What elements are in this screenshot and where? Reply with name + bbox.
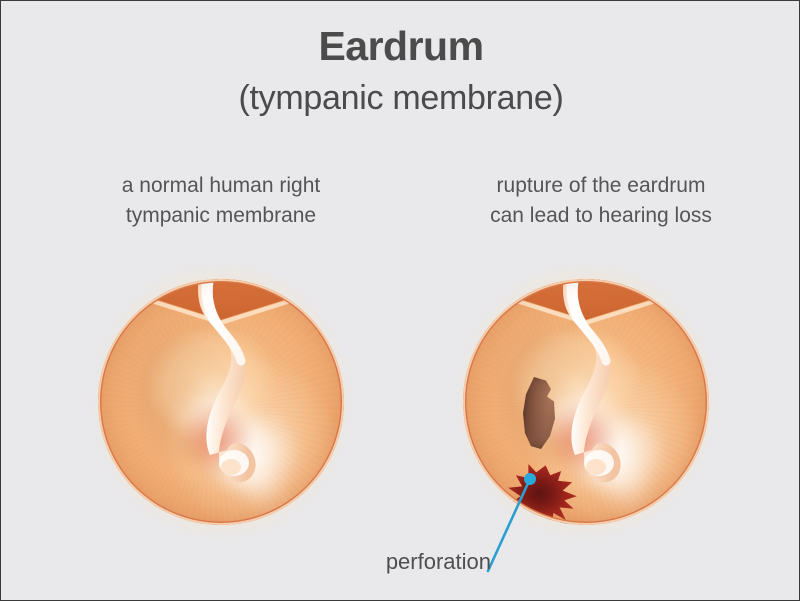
radial-fibres: [100, 281, 342, 523]
membrane-surface: [100, 281, 342, 523]
cone-of-light-glow: [571, 412, 684, 520]
eardrum-ruptured: [421, 241, 751, 561]
caption-normal: a normal human right tympanic membrane: [46, 171, 396, 231]
caption-ruptured: rupture of the eardrum can lead to heari…: [421, 171, 781, 231]
figure-subtitle: (tympanic membrane): [1, 79, 800, 118]
radial-fibres: [465, 281, 707, 523]
membrane-surface: [465, 281, 707, 523]
cone-of-light: [549, 387, 664, 522]
eardrum-normal: [56, 241, 386, 561]
umbo-glow: [544, 402, 618, 476]
caption-normal-line1: a normal human right: [46, 171, 396, 201]
caption-ruptured-line2: can lead to hearing loss: [421, 201, 781, 231]
malleus-handle: [98, 279, 344, 525]
retraction-pocket-lesion: [515, 377, 565, 449]
membrane-shadow: [108, 331, 241, 498]
membrane-highlight: [484, 304, 663, 475]
membrane-highlight: [119, 304, 298, 475]
pars-flaccida: [113, 279, 329, 348]
pars-flaccida: [478, 279, 694, 348]
malleus-handle: [463, 279, 709, 525]
figure-title: Eardrum: [1, 23, 800, 70]
caption-ruptured-line1: rupture of the eardrum: [421, 171, 781, 201]
tympanic-membrane-disc: [98, 279, 344, 525]
caption-normal-line2: tympanic membrane: [46, 201, 396, 231]
perforation-dark-hole: [558, 521, 569, 525]
perforation-label: perforation: [301, 549, 491, 575]
figure-canvas: Eardrum (tympanic membrane) a normal hum…: [0, 0, 800, 601]
membrane-shadow: [473, 331, 606, 498]
tympanic-membrane-disc: [463, 279, 709, 525]
cone-of-light: [184, 387, 299, 522]
cone-of-light-glow: [206, 412, 319, 520]
retraction-pocket-shadow: [515, 377, 565, 449]
umbo-glow: [179, 402, 253, 476]
